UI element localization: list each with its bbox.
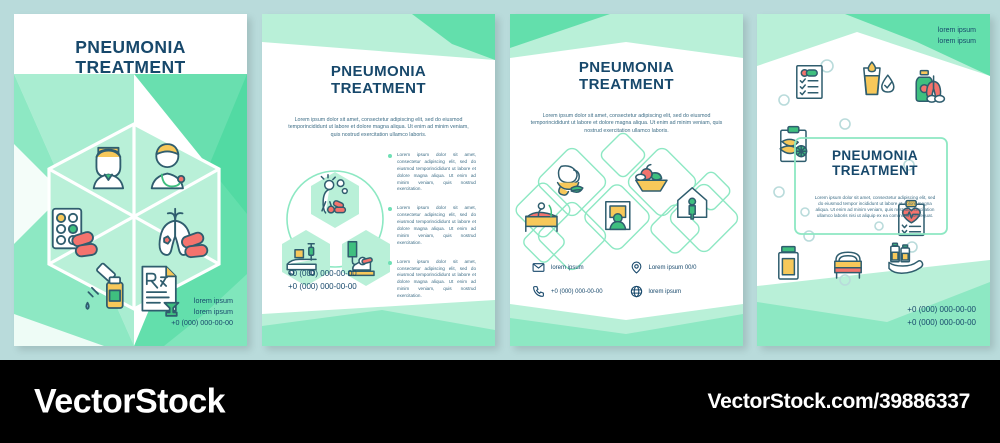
window-rest-icon <box>606 202 630 230</box>
panel1-title-line2: TREATMENT <box>14 58 247 78</box>
brochure-panel-bullets[interactable]: PNEUMONIA TREATMENT Lorem ipsum dolor si… <box>262 14 495 346</box>
phone-icon <box>532 285 545 298</box>
panel2-subtitle: Lorem ipsum dolor sit amet, consectetur … <box>286 117 471 138</box>
panel2-phone-1: +0 (000) 000-00-00 <box>288 268 357 281</box>
contact-address[interactable]: Lorem ipsum 00/0 <box>630 261 728 274</box>
panel4-corner-line-1: lorem ipsum <box>938 26 976 37</box>
location-pin-icon <box>630 261 643 274</box>
medicine-jar-icon <box>779 247 798 279</box>
bullet-dot-icon <box>388 154 392 158</box>
panel4-title-line1: PNEUMONIA <box>805 148 945 163</box>
panel4-phone-2: +0 (000) 000-00-00 <box>907 317 976 330</box>
panel1-title-line1: PNEUMONIA <box>14 38 247 58</box>
panel4-subtitle: Lorem ipsum dolor sit amet, consectetur … <box>813 195 937 220</box>
panel1-footer-line-2: lorem ipsum <box>171 306 233 317</box>
panel4-footer-phones: +0 (000) 000-00-00 +0 (000) 000-00-00 <box>907 304 976 330</box>
contact-phone[interactable]: +0 (000) 000-00-00 <box>532 285 630 298</box>
bullet-item: Lorem ipsum dolor sit amet, consectetur … <box>388 259 476 300</box>
bullet-item: Lorem ipsum dolor sit amet, consectetur … <box>388 205 476 246</box>
brochure-stage: PNEUMONIA TREATMENT lorem ipsum lorem ip… <box>0 0 1000 360</box>
panel3-title: PNEUMONIA TREATMENT <box>510 60 743 94</box>
panel2-title-line2: TREATMENT <box>262 81 495 98</box>
bullet-dot-icon <box>388 261 392 265</box>
panel4-title-line2: TREATMENT <box>805 163 945 178</box>
contact-address-text: Lorem ipsum 00/0 <box>649 265 697 271</box>
panel4-title: PNEUMONIA TREATMENT <box>805 148 945 178</box>
panel2-title-line1: PNEUMONIA <box>262 64 495 81</box>
bullet-text: Lorem ipsum dolor sit amet, consectetur … <box>397 205 476 246</box>
panel2-phone-2: +0 (000) 000-00-00 <box>288 281 357 294</box>
bullet-item: Lorem ipsum dolor sit amet, consectetur … <box>388 152 476 193</box>
panel4-phone-1: +0 (000) 000-00-00 <box>907 304 976 317</box>
contact-email-text: lorem ipsum <box>551 265 584 271</box>
bullet-text: Lorem ipsum dolor sit amet, consectetur … <box>397 259 476 300</box>
nurse-icon <box>94 148 123 188</box>
panel4-corner-text: lorem ipsum lorem ipsum <box>938 26 976 48</box>
panel1-footer: lorem ipsum lorem ipsum +0 (000) 000-00-… <box>171 295 233 328</box>
brochure-panel-collage[interactable]: lorem ipsum lorem ipsum PNEUMONIA TREATM… <box>757 14 990 346</box>
brochure-panel-cover[interactable]: PNEUMONIA TREATMENT lorem ipsum lorem ip… <box>14 14 247 346</box>
bullet-dot-icon <box>388 207 392 211</box>
watermark-url: VectorStock.com/39886337 <box>708 390 970 414</box>
panel4-title-card: PNEUMONIA TREATMENT Lorem ipsum dolor si… <box>805 142 945 234</box>
pill-checklist-icon <box>797 66 822 98</box>
contact-phone-text: +0 (000) 000-00-00 <box>551 289 603 295</box>
panel1-footer-line-1: lorem ipsum <box>171 295 233 306</box>
watermark-brand: VectorStock <box>34 382 225 421</box>
panel3-title-line1: PNEUMONIA <box>510 60 743 77</box>
watermark-bar: VectorStock VectorStock.com/39886337 <box>0 360 1000 443</box>
bullet-text: Lorem ipsum dolor sit amet, consectetur … <box>397 152 476 193</box>
globe-icon <box>630 285 643 298</box>
contact-website[interactable]: lorem ipsum <box>630 285 728 298</box>
panel3-subtitle: Lorem ipsum dolor sit amet, consectetur … <box>530 113 723 134</box>
panel1-title: PNEUMONIA TREATMENT <box>14 38 247 77</box>
panel2-phone-block: +0 (000) 000-00-00 +0 (000) 000-00-00 <box>288 268 357 294</box>
banana-clipboard-icon <box>780 127 806 162</box>
panel2-title: PNEUMONIA TREATMENT <box>262 64 495 98</box>
panel3-contact-grid: lorem ipsum Lorem ipsum 00/0 +0 (000) 00… <box>532 261 727 298</box>
brochure-panel-diamonds[interactable]: PNEUMONIA TREATMENT Lorem ipsum dolor si… <box>510 14 743 346</box>
panel3-title-line2: TREATMENT <box>510 77 743 94</box>
envelope-icon <box>532 261 545 274</box>
contact-email[interactable]: lorem ipsum <box>532 261 630 274</box>
panel2-bullet-list: Lorem ipsum dolor sit amet, consectetur … <box>388 152 476 312</box>
panel4-corner-line-2: lorem ipsum <box>938 37 976 48</box>
panel1-footer-phone: +0 (000) 000-00-00 <box>171 317 233 328</box>
contact-website-text: lorem ipsum <box>649 289 682 295</box>
